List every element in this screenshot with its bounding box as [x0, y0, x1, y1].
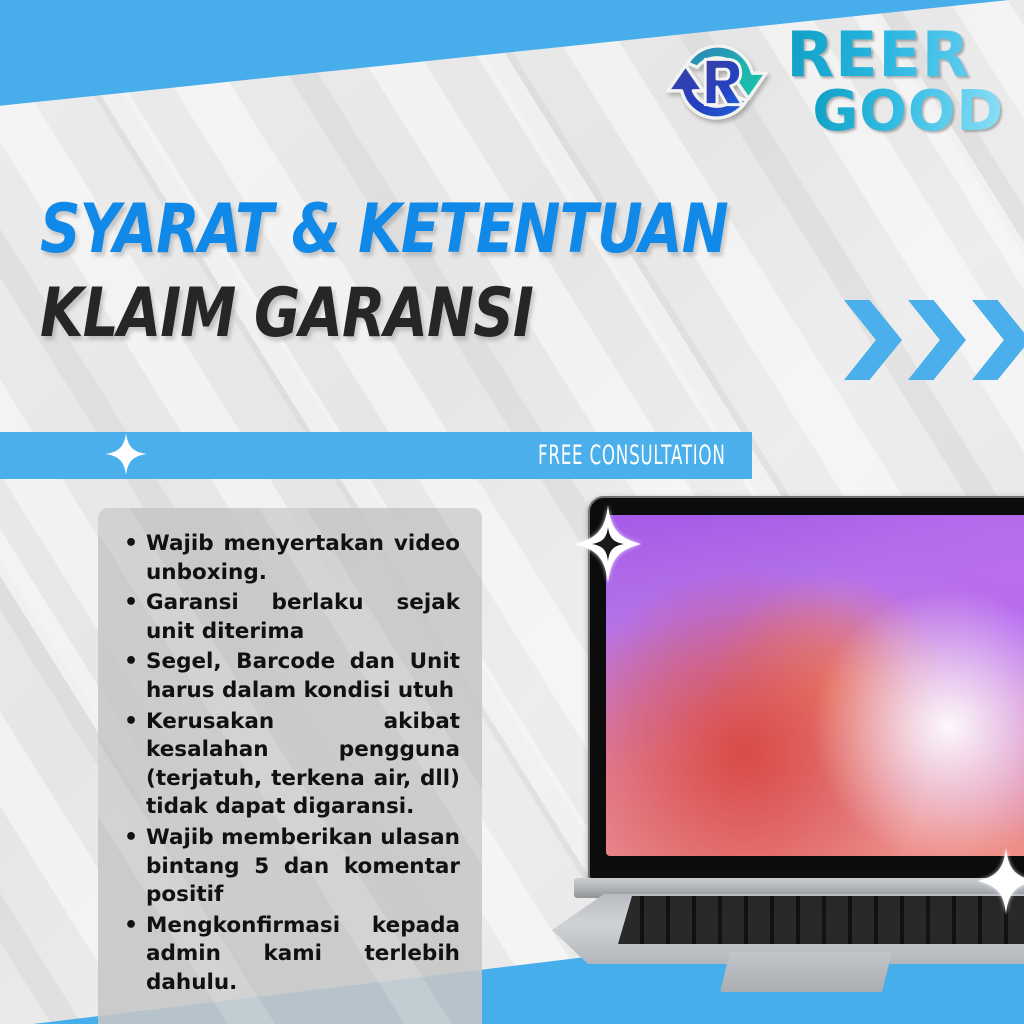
poster-canvas: REER GOOD SYARAT & KETENTUAN KLAIM GARAN…	[0, 0, 1024, 1024]
chevron-right-icon	[972, 300, 1024, 380]
free-consultation-banner: FREE CONSULTATION	[0, 432, 752, 479]
terms-list: Wajib menyertakan video unboxing. Garans…	[120, 530, 460, 998]
chevron-right-icon	[908, 300, 966, 380]
laptop-image	[552, 496, 1024, 976]
list-item: Wajib memberikan ulasan bintang 5 dan ko…	[120, 824, 460, 910]
list-item: Kerusakan akibat kesalahan pengguna (ter…	[120, 708, 460, 822]
list-item: Garansi berlaku sejak unit diterima	[120, 589, 460, 646]
title-line-1: SYARAT & KETENTUAN	[40, 196, 728, 264]
chevron-group	[844, 300, 1024, 380]
laptop-lid	[588, 496, 1024, 880]
brand-name-line1: REER	[786, 28, 1004, 83]
terms-panel: Wajib menyertakan video unboxing. Garans…	[98, 508, 482, 1024]
list-item: Segel, Barcode dan Unit harus dalam kond…	[120, 648, 460, 705]
laptop-trackpad	[720, 952, 892, 992]
banner-label: FREE CONSULTATION	[538, 440, 726, 471]
title-line-2: KLAIM GARANSI	[40, 280, 728, 348]
brand-logo: REER GOOD	[658, 24, 1004, 140]
list-item: Wajib menyertakan video unboxing.	[120, 530, 460, 587]
page-title: SYARAT & KETENTUAN KLAIM GARANSI	[40, 196, 788, 348]
laptop-screen-wallpaper	[606, 515, 1024, 856]
laptop-keyboard	[618, 896, 1024, 948]
list-item: Mengkonfirmasi kepada admin kami terlebi…	[120, 912, 460, 998]
brand-name-line2: GOOD	[812, 87, 1004, 136]
recycle-arrows-r-logo-icon	[658, 24, 776, 140]
sparkle-star-icon	[104, 432, 148, 480]
chevron-right-icon	[844, 300, 902, 380]
